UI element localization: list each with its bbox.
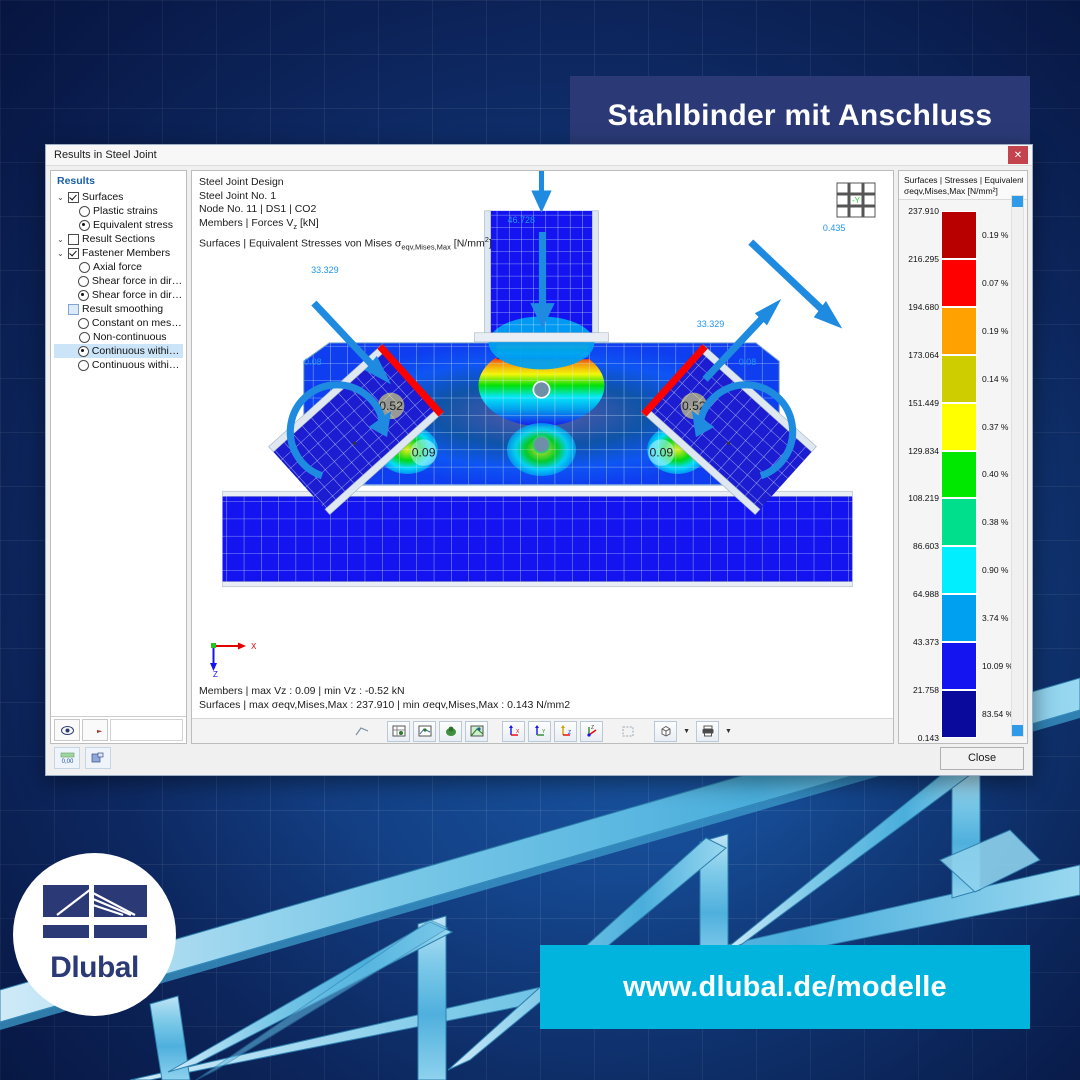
checkbox[interactable] [68, 192, 79, 203]
coordinates-icon[interactable]: 0,00 [54, 747, 80, 769]
annotation-pointer: 0.435 [823, 223, 846, 233]
legend-color-swatches [941, 211, 977, 738]
tree-item-11[interactable]: Continuous within su... [54, 344, 183, 358]
pointer-icon[interactable] [82, 719, 108, 741]
tree-item-5[interactable]: Axial force [54, 260, 183, 274]
legend-value-11: 0.143 [901, 733, 939, 743]
dlubal-wordmark: Dlubal [50, 951, 139, 985]
radio-button[interactable] [79, 332, 90, 343]
radio-button[interactable] [78, 360, 89, 371]
texture-icon[interactable] [465, 721, 488, 742]
results-nav-pane: Results ⌄SurfacesPlastic strainsEquivale… [50, 170, 187, 744]
annotation-moment-left: 0.08 [304, 357, 322, 367]
tree-item-label: Non-continuous [93, 331, 167, 343]
tree-item-0[interactable]: ⌄Surfaces [54, 190, 183, 204]
legend-value-2: 194.680 [901, 302, 939, 312]
tree-item-8[interactable]: ⌄Result smoothing [54, 302, 183, 316]
url-banner[interactable]: www.dlubal.de/modelle [540, 945, 1030, 1029]
legend-value-6: 108.219 [901, 493, 939, 503]
annotation-diagonal-right: 33.329 [697, 319, 725, 329]
results-in-steel-joint-window[interactable]: Results in Steel Joint ✕ Results ⌄Surfac… [45, 144, 1033, 776]
legend-header: Surfaces | Stresses | Equivalent St σeqv… [899, 171, 1027, 200]
view-x-icon[interactable]: X [502, 721, 525, 742]
chevron-down-icon[interactable]: ⌄ [56, 193, 65, 202]
legend-swatch-10 [941, 690, 977, 738]
viewport-pane: 0.52 0.52 0.09 0.09 Steel Joint Design S… [191, 170, 894, 744]
window-title: Results in Steel Joint [54, 149, 157, 161]
svg-text:Z: Z [213, 670, 218, 678]
radio-button[interactable] [79, 262, 90, 273]
legend-value-0: 237.910 [901, 206, 939, 216]
legend-title-line-2: σeqv,Mises,Max [N/mm²] [904, 186, 1023, 196]
nav-footer-field [110, 719, 183, 741]
svg-text:-Y: -Y [852, 196, 861, 205]
tree-item-label: Continuous within all... [92, 359, 183, 371]
coordinate-axes-indicator: X Z [208, 638, 258, 678]
svg-text:X: X [251, 642, 257, 651]
dlubal-logo: Dlubal [13, 853, 176, 1016]
view-iso-icon[interactable]: Z [580, 721, 603, 742]
legend-scroll-thumb-top[interactable] [1012, 196, 1023, 207]
legend-value-1: 216.295 [901, 254, 939, 264]
legend-scale-values: 237.910216.295194.680173.064151.449129.8… [901, 206, 941, 743]
footer-surfaces-line: Surfaces | max σeqv,Mises,Max : 237.910 … [199, 698, 570, 712]
header-members-line: Members | Forces Vz [kN] [199, 217, 492, 234]
header-line-1: Steel Joint Design [199, 176, 492, 190]
tree-item-label: Axial force [93, 261, 142, 273]
legend-value-5: 129.834 [901, 446, 939, 456]
snap-icon[interactable] [85, 747, 111, 769]
svg-text:0.09: 0.09 [412, 446, 436, 460]
legend-swatch-2 [941, 307, 977, 355]
legend-swatch-5 [941, 451, 977, 499]
viewport-header-text: Steel Joint Design Steel Joint No. 1 Nod… [199, 176, 492, 254]
legend-pane: Surfaces | Stresses | Equivalent St σeqv… [898, 170, 1028, 744]
legend-scroll-thumb-bottom[interactable] [1012, 725, 1023, 736]
chevron-down-icon[interactable]: ⌄ [56, 235, 65, 244]
legend-swatch-7 [941, 546, 977, 594]
svg-text:0.52: 0.52 [682, 399, 706, 413]
svg-text:Z: Z [568, 730, 571, 736]
legend-value-9: 43.373 [901, 637, 939, 647]
fe-model-canvas[interactable]: 0.52 0.52 0.09 0.09 Steel Joint Design S… [192, 171, 893, 718]
print-caret-icon[interactable]: ▼ [722, 728, 735, 735]
annotation-diagonal-left: 33.329 [311, 265, 339, 275]
radio-button[interactable] [78, 346, 89, 357]
annotation-vertical-load: 46.728 [507, 215, 535, 225]
viewport-footer-text: Members | max Vz : 0.09 | min Vz : -0.52… [199, 684, 570, 712]
tree-item-7[interactable]: Shear force in directi... [54, 288, 183, 302]
radio-button[interactable] [78, 318, 89, 329]
svg-text:0.52: 0.52 [379, 399, 403, 413]
hidden-lines-icon[interactable] [413, 721, 436, 742]
tree-item-label: Shear force in directi... [92, 275, 183, 287]
view-y-icon[interactable]: Y [528, 721, 551, 742]
window-body: Results ⌄SurfacesPlastic strainsEquivale… [46, 166, 1032, 744]
wireframe-icon[interactable] [350, 721, 373, 742]
render-solid-icon[interactable] [387, 721, 410, 742]
tree-item-4[interactable]: ⌄Fastener Members [54, 246, 183, 260]
checkbox[interactable] [68, 304, 79, 315]
tree-item-label: Shear force in directi... [92, 289, 183, 301]
legend-value-8: 64.988 [901, 589, 939, 599]
tree-item-label: Fastener Members [82, 247, 170, 259]
legend-swatch-8 [941, 594, 977, 642]
tree-item-label: Constant on mesh el... [92, 317, 183, 329]
eye-icon[interactable] [54, 719, 80, 741]
tree-item-12[interactable]: Continuous within all... [54, 358, 183, 372]
header-surfaces-line: Surfaces | Equivalent Stresses von Mises… [199, 233, 492, 254]
tree-item-label: Surfaces [82, 191, 123, 203]
box-caret-icon[interactable]: ▼ [680, 728, 693, 735]
radio-button[interactable] [79, 206, 90, 217]
legend-value-4: 151.449 [901, 398, 939, 408]
viewport-toolbar[interactable]: X Y Z Z ▼ ▼ [192, 718, 893, 743]
svg-text:X: X [516, 729, 520, 735]
svg-text:0.09: 0.09 [649, 446, 673, 460]
svg-text:Y: Y [542, 729, 546, 735]
radio-button[interactable] [78, 276, 89, 287]
legend-value-3: 173.064 [901, 350, 939, 360]
checkbox[interactable] [68, 234, 79, 245]
tree-item-label: Plastic strains [93, 205, 158, 217]
legend-swatch-1 [941, 259, 977, 307]
checkbox[interactable] [68, 248, 79, 259]
close-icon[interactable]: ✕ [1008, 146, 1028, 164]
tree-item-2[interactable]: Equivalent stress [54, 218, 183, 232]
radio-button[interactable] [79, 220, 90, 231]
legend-value-10: 21.758 [901, 685, 939, 695]
tree-item-9[interactable]: Constant on mesh el... [54, 316, 183, 330]
svg-text:Z: Z [591, 725, 594, 731]
chevron-down-icon[interactable]: ⌄ [56, 249, 65, 258]
legend-swatch-3 [941, 355, 977, 403]
radio-button[interactable] [78, 290, 89, 301]
close-button[interactable]: Close [940, 747, 1024, 770]
tree-item-10[interactable]: Non-continuous [54, 330, 183, 344]
tree-item-1[interactable]: Plastic strains [54, 204, 183, 218]
header-line-2: Steel Joint No. 1 [199, 190, 492, 204]
legend-scrollbar[interactable] [1011, 195, 1024, 737]
box-view-icon[interactable] [654, 721, 677, 742]
legend-value-7: 86.603 [901, 541, 939, 551]
legend-title-line-1: Surfaces | Stresses | Equivalent St [904, 175, 1023, 185]
footer-members-line: Members | max Vz : 0.09 | min Vz : -0.52… [199, 684, 570, 698]
tree-item-label: Result smoothing [82, 303, 163, 315]
tree-item-6[interactable]: Shear force in directi... [54, 274, 183, 288]
legend-swatch-0 [941, 211, 977, 259]
view-z-icon[interactable]: Z [554, 721, 577, 742]
svg-text:0,00: 0,00 [61, 759, 73, 764]
tree-item-label: Equivalent stress [93, 219, 173, 231]
nav-footer-toolbar [51, 716, 186, 743]
dlubal-bridge-icon [43, 885, 147, 947]
zoom-window-icon[interactable] [617, 721, 640, 742]
tree-item-3[interactable]: ⌄Result Sections [54, 232, 183, 246]
shaded-icon[interactable] [439, 721, 462, 742]
legend-swatch-9 [941, 642, 977, 690]
tree-item-label: Result Sections [82, 233, 155, 245]
legend-body: 237.910216.295194.680173.064151.449129.8… [899, 200, 1027, 743]
annotation-moment-right: 0.08 [739, 357, 757, 367]
print-icon[interactable] [696, 721, 719, 742]
tree-item-label: Continuous within su... [92, 345, 183, 357]
headline-text: Stahlbinder mit Anschluss [608, 99, 993, 133]
results-group-title: Results [57, 175, 183, 187]
results-tree[interactable]: Results ⌄SurfacesPlastic strainsEquivale… [51, 171, 186, 716]
window-titlebar: Results in Steel Joint ✕ [46, 145, 1032, 166]
window-footer: 0,00 Close [46, 744, 1032, 772]
legend-swatch-4 [941, 403, 977, 451]
view-navigation-cube[interactable]: -Y [835, 181, 879, 223]
url-text: www.dlubal.de/modelle [623, 971, 947, 1004]
legend-swatch-6 [941, 498, 977, 546]
header-line-3: Node No. 11 | DS1 | CO2 [199, 203, 492, 217]
